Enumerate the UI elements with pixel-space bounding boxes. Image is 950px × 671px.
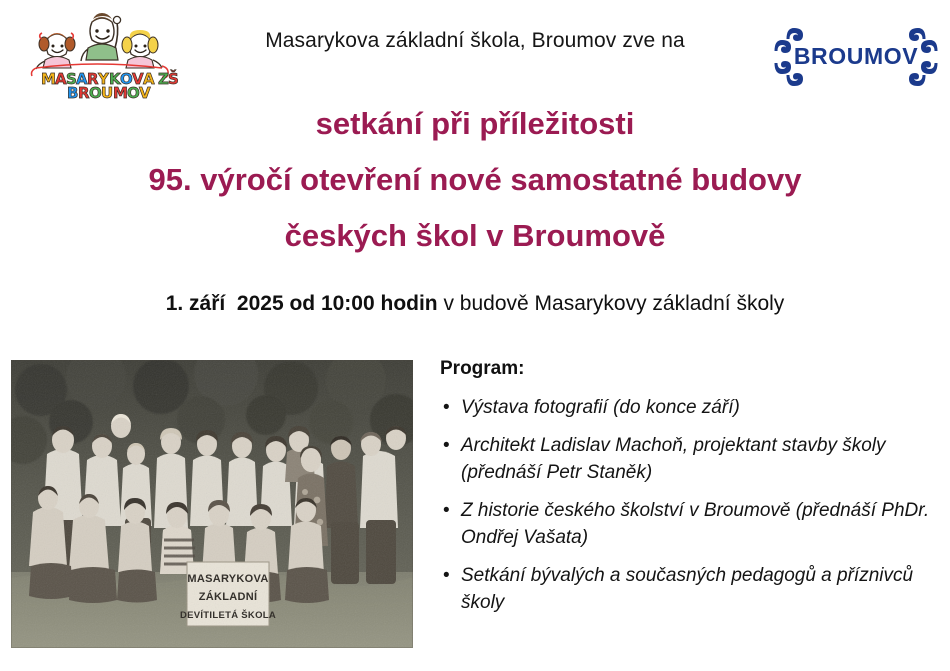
- headline-line-1: setkání při příležitosti: [0, 96, 950, 152]
- svg-text:ZÁKLADNÍ: ZÁKLADNÍ: [199, 590, 258, 603]
- program-list: • Výstava fotografií (do konce září) • A…: [440, 394, 945, 616]
- bullet-icon: •: [443, 497, 450, 524]
- svg-text:DEVÍTILETÁ ŠKOLA: DEVÍTILETÁ ŠKOLA: [180, 609, 276, 621]
- photo-sign: MASARYKOVA ZÁKLADNÍ DEVÍTILETÁ ŠKOLA: [180, 562, 276, 626]
- school-logo: M A S A R Y K O V A Z Š B R O U M O: [14, 8, 182, 100]
- svg-text:MASARYKOVA: MASARYKOVA: [187, 573, 268, 585]
- headline-line-2: 95. výročí otevření nové samostatné budo…: [0, 152, 950, 208]
- invitation-line: Masarykova základní škola, Broumov zve n…: [0, 27, 950, 54]
- program-item-text: Výstava fotografií (do konce září): [461, 394, 945, 421]
- program-item-text: Setkání bývalých a současných pedagogů a…: [461, 562, 945, 616]
- program-item: • Setkání bývalých a současných pedagogů…: [440, 562, 945, 616]
- datetime-plain: v budově Masarykovy základní školy: [438, 292, 785, 315]
- svg-text:M: M: [41, 70, 56, 88]
- datetime-bold: 1. září 2025 od 10:00 hodin: [166, 292, 438, 315]
- bullet-icon: •: [443, 562, 450, 589]
- headline-block: setkání při příležitosti 95. výročí otev…: [0, 96, 950, 264]
- datetime-line: 1. září 2025 od 10:00 hodin v budově Mas…: [0, 289, 950, 319]
- program-block: Program: • Výstava fotografií (do konce …: [440, 356, 945, 627]
- program-item: • Architekt Ladislav Machoň, projektant …: [440, 432, 945, 486]
- historic-group-photo: MASARYKOVA ZÁKLADNÍ DEVÍTILETÁ ŠKOLA: [11, 360, 413, 648]
- program-item-text: Z historie českého školství v Broumově (…: [461, 497, 945, 551]
- poster-root: M A S A R Y K O V A Z Š B R O U M O: [0, 0, 950, 671]
- program-item-text: Architekt Ladislav Machoň, projektant st…: [461, 432, 945, 486]
- headline-line-3: českých škol v Broumově: [0, 208, 950, 264]
- svg-text:Š: Š: [168, 69, 179, 88]
- bullet-icon: •: [443, 394, 450, 421]
- program-title: Program:: [440, 356, 945, 382]
- program-item: • Z historie českého školství v Broumově…: [440, 497, 945, 551]
- bullet-icon: •: [443, 432, 450, 459]
- program-item: • Výstava fotografií (do konce září): [440, 394, 945, 421]
